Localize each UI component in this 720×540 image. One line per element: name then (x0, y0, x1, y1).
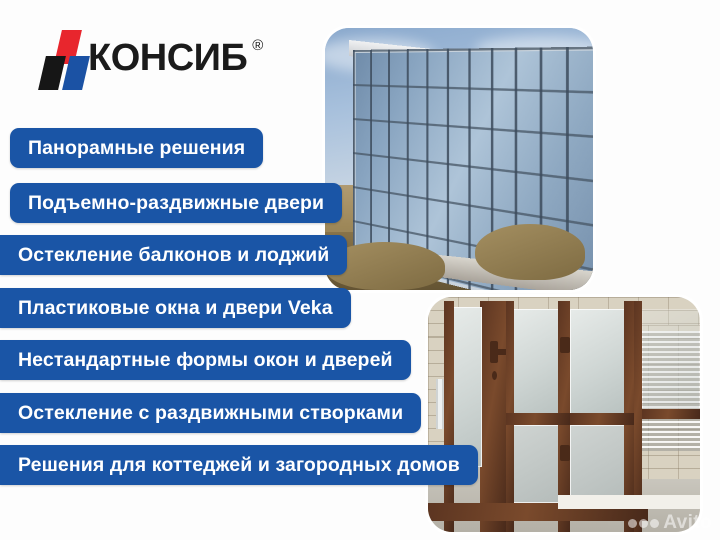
glass-pane (570, 309, 626, 414)
door-handle-base-icon[interactable] (490, 341, 498, 363)
hinge-icon (560, 445, 570, 461)
advert-canvas: КОНСИБ ® (0, 0, 720, 540)
konsib-logo-mark-icon (36, 30, 84, 86)
window-sill-white (558, 495, 700, 509)
feature-banner-7-label: Решения для коттеджей и загородных домов (0, 454, 478, 477)
brand-name: КОНСИБ (88, 37, 247, 79)
feature-banner-1[interactable]: Панорамные решения (10, 128, 263, 168)
feature-banner-1-label: Панорамные решения (10, 137, 263, 160)
feature-banner-4-label: Пластиковые окна и двери Veka (0, 297, 351, 320)
dirt-pile (475, 224, 585, 280)
feature-banner-5-label: Нестандартные формы окон и дверей (0, 349, 411, 372)
feature-banner-3[interactable]: Остекление балконов и лоджий (0, 235, 347, 275)
feature-banner-3-label: Остекление балконов и лоджий (0, 244, 347, 267)
door-frame-edge (444, 301, 454, 532)
door-transom (642, 409, 700, 419)
glass-pane (512, 425, 560, 503)
feature-banner-7[interactable]: Решения для коттеджей и загородных домов (0, 445, 478, 485)
logo-parallelogram-black-icon (38, 56, 66, 90)
glass-pane (642, 309, 700, 409)
feature-banner-6[interactable]: Остекление с раздвижными створками (0, 393, 421, 433)
feature-banner-6-label: Остекление с раздвижными створками (0, 402, 421, 425)
avito-dots-icon (628, 519, 659, 528)
photo-glass-facade-building (325, 28, 593, 290)
feature-banner-5[interactable]: Нестандартные формы окон и дверей (0, 340, 411, 380)
brand-wordmark: КОНСИБ ® (88, 39, 247, 77)
brand-logo: КОНСИБ ® (36, 28, 247, 88)
glass-pane (452, 307, 482, 467)
door-lock-icon[interactable] (492, 371, 497, 380)
door-frame-left-stile (480, 301, 506, 532)
feature-banner-2-label: Подъемно-раздвижные двери (10, 192, 342, 215)
hinge-icon (560, 337, 570, 353)
photo-brown-balcony-door (428, 297, 700, 532)
avito-watermark: Avito (628, 512, 712, 534)
glass-pane (512, 309, 560, 414)
feature-banner-4[interactable]: Пластиковые окна и двери Veka (0, 288, 351, 328)
door-transom (506, 413, 570, 425)
feature-banner-2[interactable]: Подъемно-раздвижные двери (10, 183, 342, 223)
avito-watermark-label: Avito (663, 512, 712, 534)
registered-trademark-icon: ® (252, 37, 263, 54)
door-transom (570, 413, 634, 425)
glass-pane (570, 425, 626, 503)
